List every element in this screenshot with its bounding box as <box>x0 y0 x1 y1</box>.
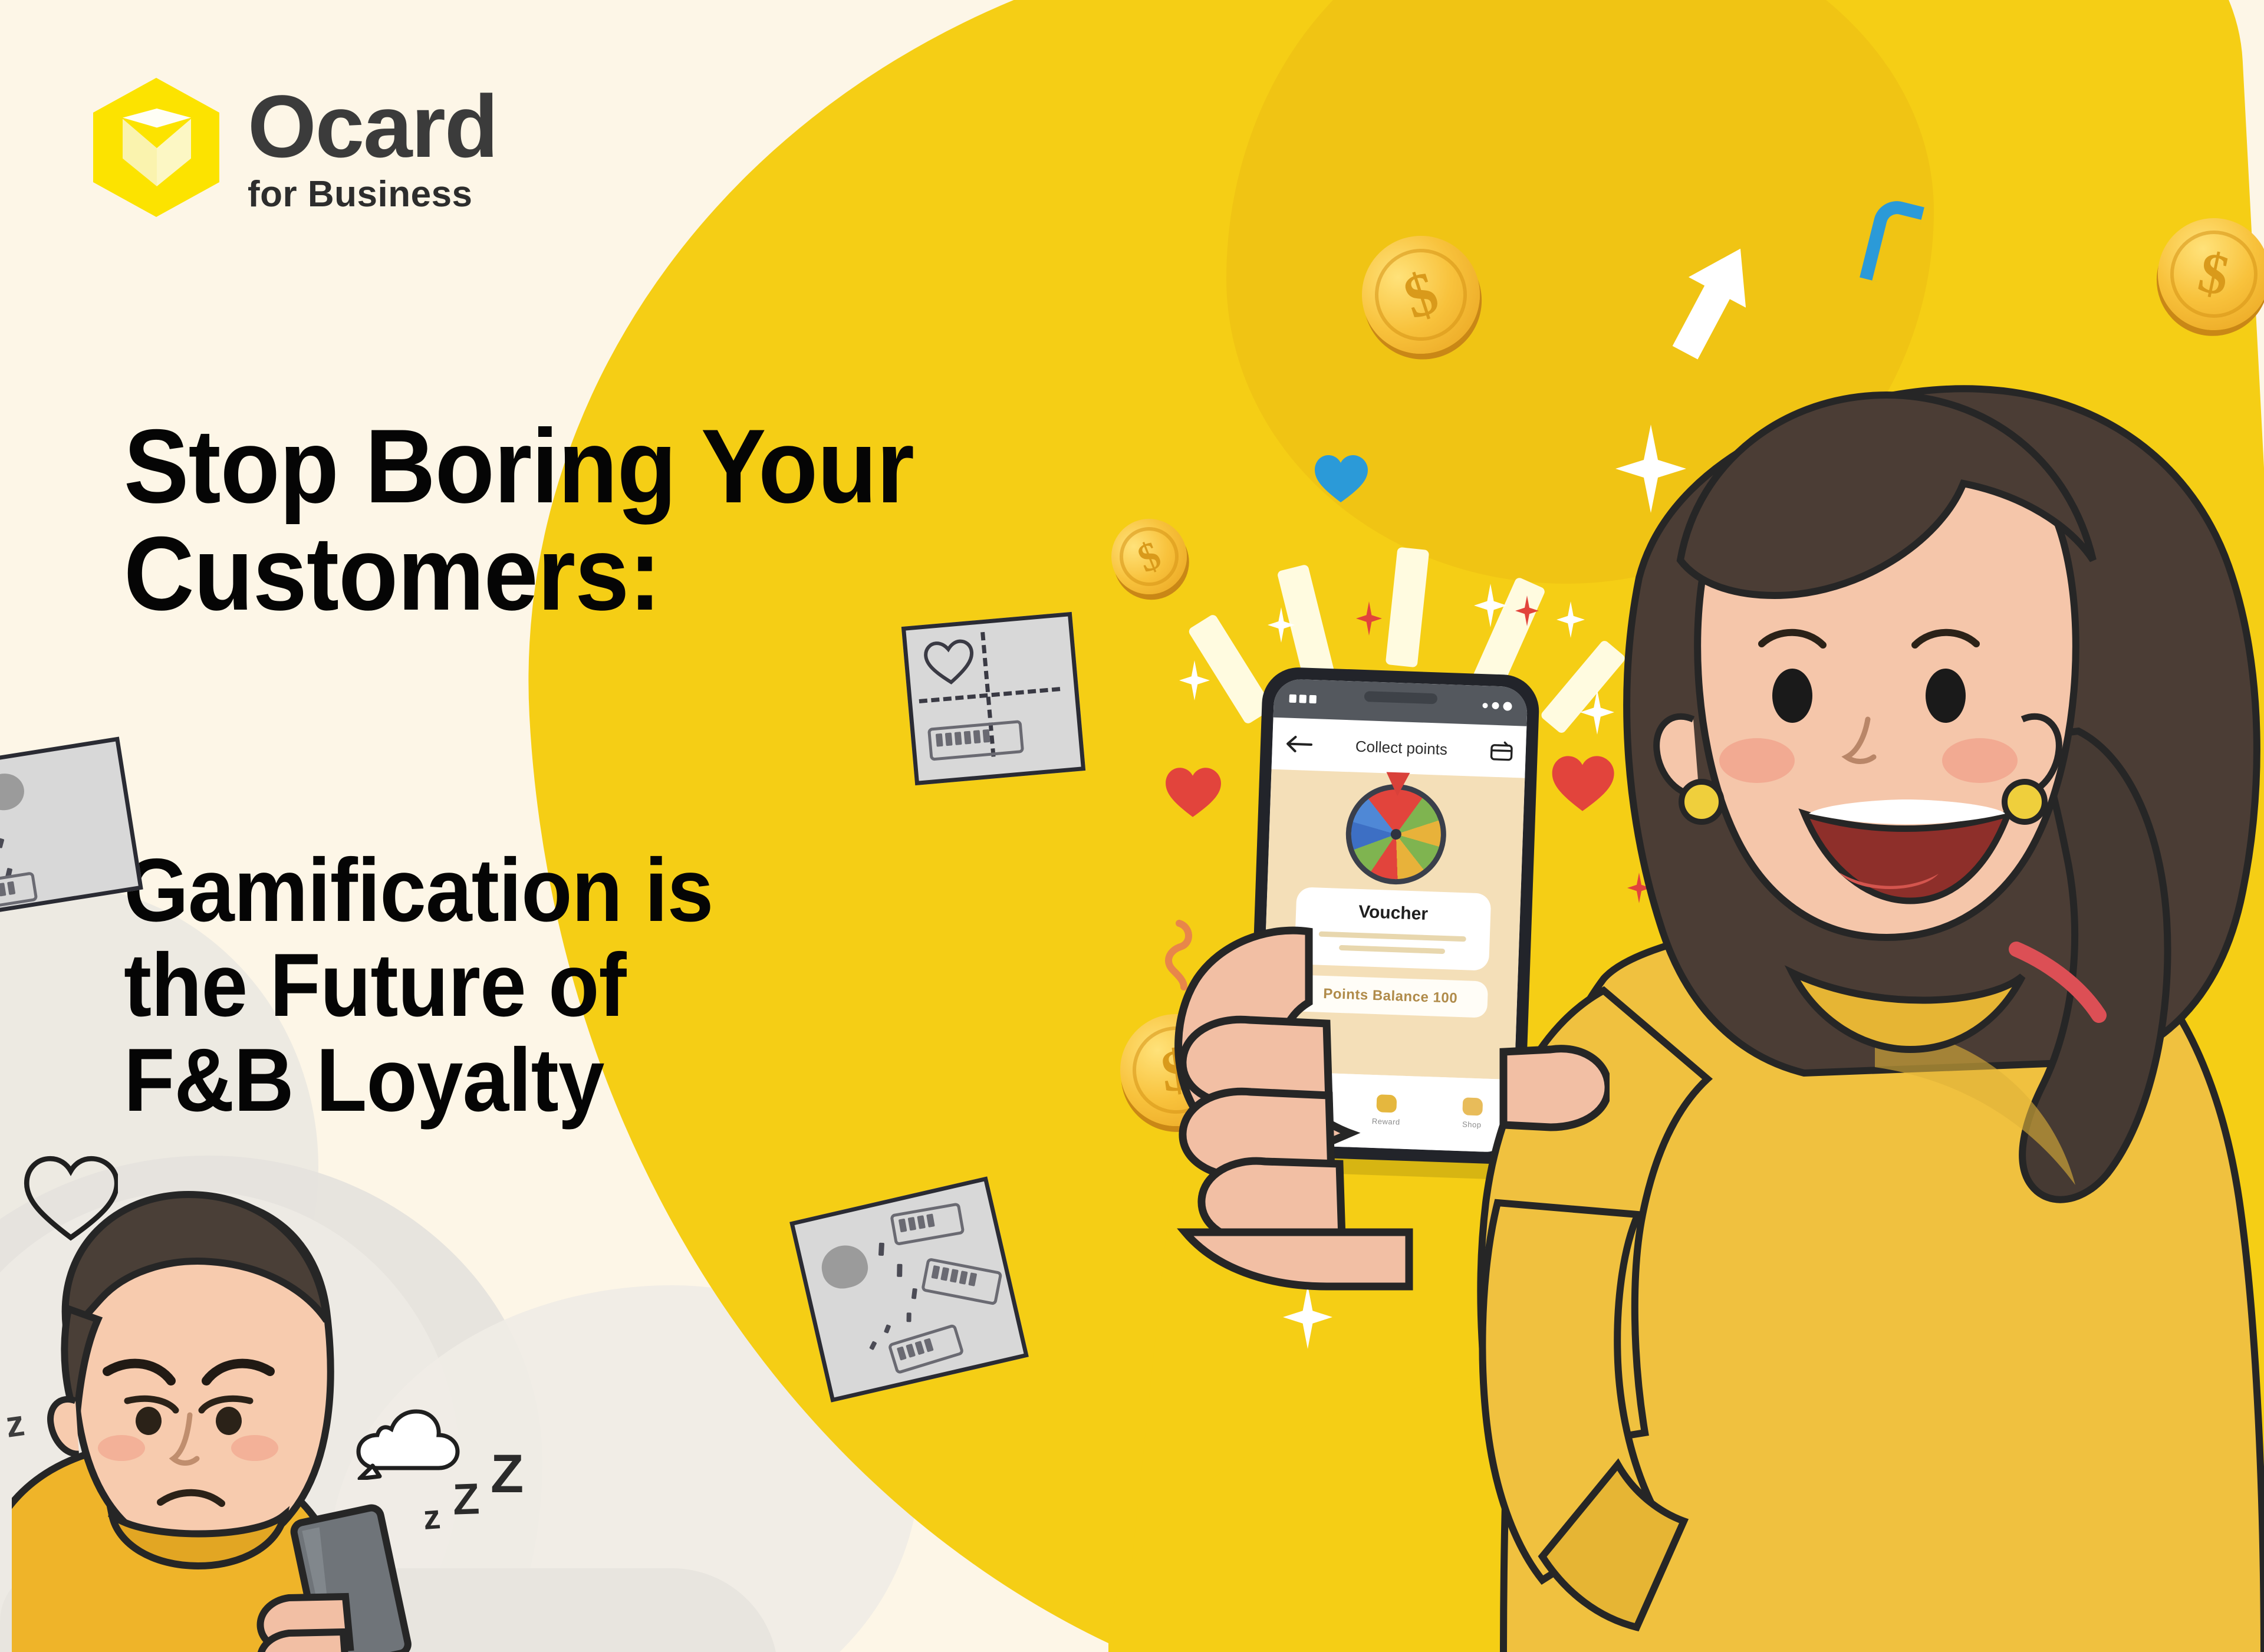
cloud-thought-bubble-icon <box>348 1397 460 1483</box>
blob-icon <box>817 1241 871 1293</box>
headline-secondary: Gamification is the Future of F&B Loyalt… <box>124 843 1056 1128</box>
blue-heart-icon <box>1314 454 1368 506</box>
blob-icon <box>0 771 27 813</box>
coupon-stamp <box>921 1258 1003 1306</box>
coupon-stamp <box>887 1324 965 1375</box>
brand-name: Ocard <box>248 82 498 170</box>
headline-line: Stop Boring Your <box>124 413 1100 520</box>
brand-logo[interactable]: Ocard for Business <box>93 78 498 217</box>
sleep-text: z <box>422 1497 442 1538</box>
headline-line: the Future of <box>124 938 1056 1033</box>
back-arrow-icon[interactable] <box>1285 734 1313 754</box>
sleep-text: Z <box>452 1473 481 1525</box>
heart-outline-icon <box>922 638 977 690</box>
coupon-stamp <box>927 720 1024 761</box>
headline-line: F&B Loyalty <box>124 1033 1056 1128</box>
headline-primary: Stop Boring Your Customers: <box>124 413 1100 627</box>
hand-holding-phone <box>1161 825 1610 1297</box>
coupon-stamp <box>0 871 38 909</box>
hex-cube-logo-icon <box>93 78 219 217</box>
grey-coupon-heart <box>901 612 1085 785</box>
poster-canvas: Ocard for Business Stop Boring Your Cust… <box>0 0 2264 1652</box>
brand-tagline: for Business <box>248 176 498 213</box>
coupon-stamp <box>890 1202 965 1246</box>
grey-receipt-left <box>0 737 143 916</box>
headline-line: Gamification is <box>124 843 1056 938</box>
red-heart-icon <box>1164 766 1221 821</box>
sleep-text: Z <box>491 1443 524 1505</box>
headline-line: Customers: <box>124 520 1100 627</box>
signal-icon <box>1289 695 1317 704</box>
